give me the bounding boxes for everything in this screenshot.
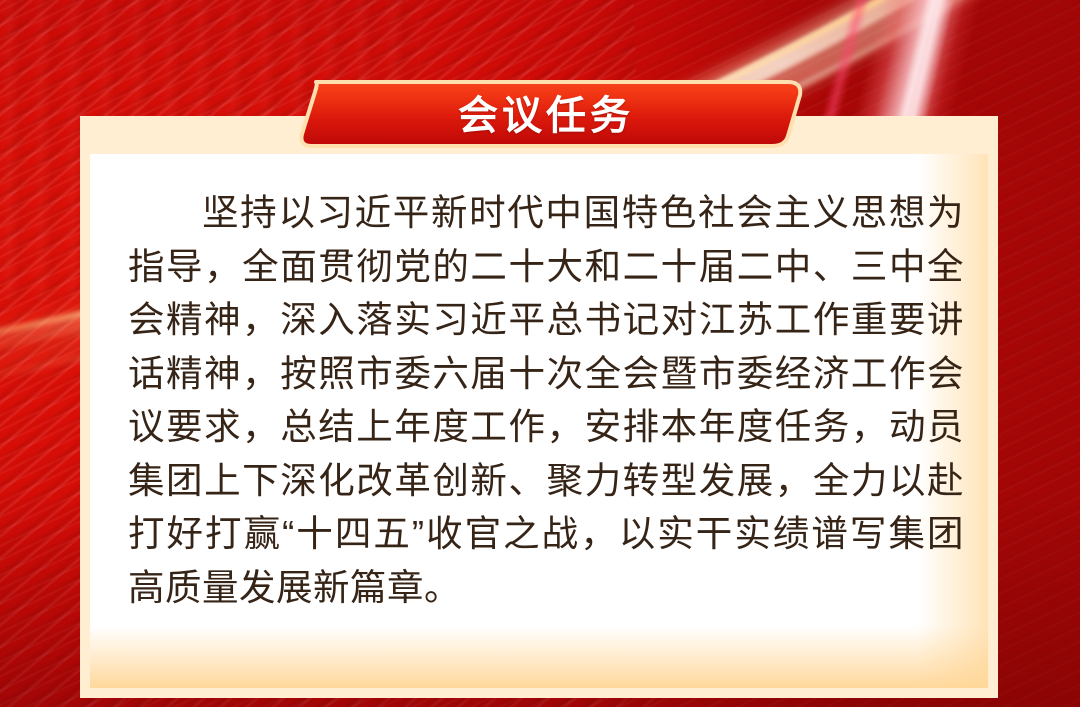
poster-canvas: 会议任务 坚持以习近平新时代中国特色社会主义思想为指导，全面贯彻党的二十大和二十…: [0, 0, 1080, 707]
meeting-task-paragraph: 坚持以习近平新时代中国特色社会主义思想为指导，全面贯彻党的二十大和二十届二中、三…: [128, 186, 964, 614]
section-banner-title: 会议任务: [282, 76, 810, 150]
section-banner: 会议任务: [282, 76, 810, 150]
card-bottom-glow: [90, 626, 988, 688]
